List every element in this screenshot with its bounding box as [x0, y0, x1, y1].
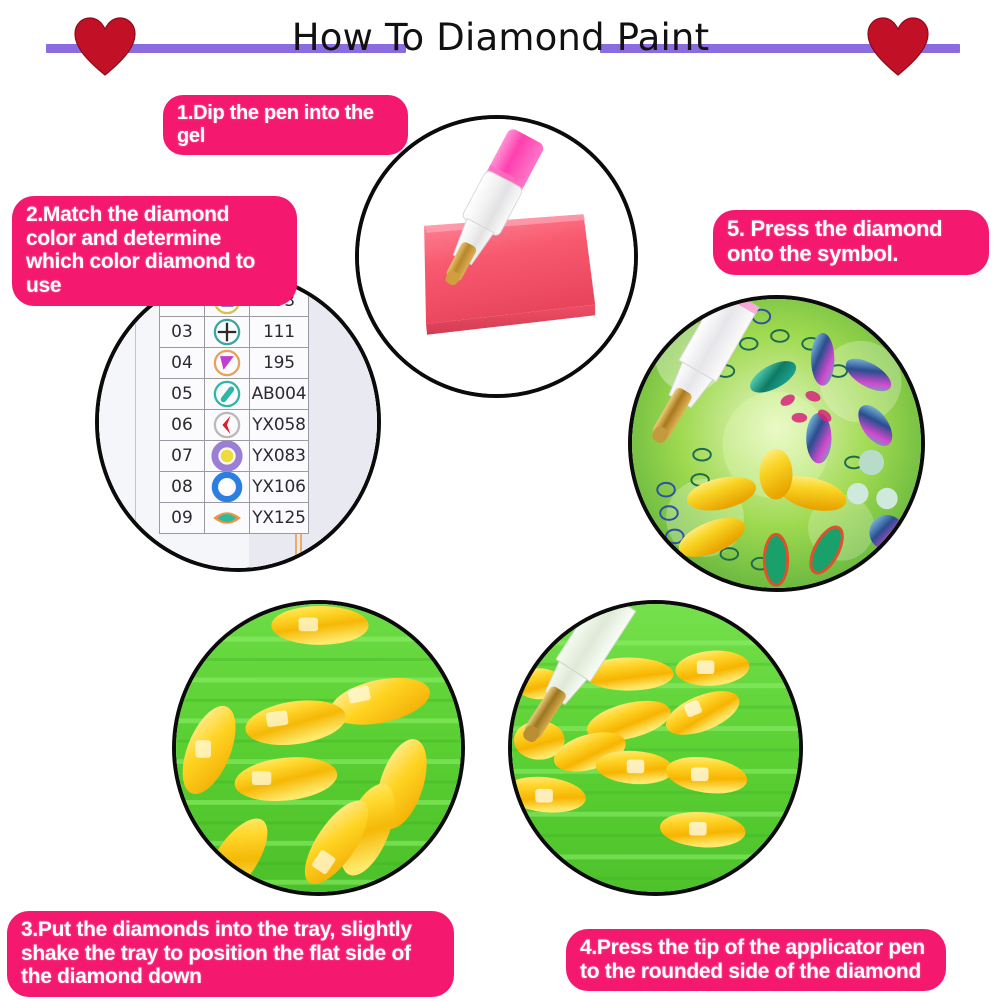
page-header: How To Diamond Paint: [0, 0, 1001, 80]
step-1-label: 1.Dip the pen into the gel: [163, 95, 408, 155]
step-5-label: 5. Press the diamond onto the symbol.: [713, 210, 989, 275]
photo-step-5: [628, 295, 925, 592]
color-code-table: 0102002093031110419505AB00406YX05807YX08…: [159, 272, 309, 534]
page-title: How To Diamond Paint: [0, 16, 1001, 60]
open-ring-symbol: [205, 472, 250, 503]
photo-step-2-color-chart: 0102002093031110419505AB00406YX05807YX08…: [95, 272, 381, 572]
color-row-number: 07: [160, 441, 205, 472]
diagonal-bar-circle-symbol: [205, 379, 250, 410]
plus-cross-symbol: [205, 317, 250, 348]
color-chart-photo: 0102002093031110419505AB00406YX05807YX08…: [99, 276, 377, 568]
color-row-number: 03: [160, 317, 205, 348]
table-row: 08YX106: [160, 472, 309, 503]
photo-step-3: [172, 600, 465, 896]
table-row: 06YX058: [160, 410, 309, 441]
color-row-code: 111: [250, 317, 309, 348]
color-row-code: YX083: [250, 441, 309, 472]
color-row-code: YX106: [250, 472, 309, 503]
table-row: 05AB004: [160, 379, 309, 410]
step-2-label: 2.Match the diamond color and determine …: [12, 196, 297, 306]
step-4-label: 4.Press the tip of the applicator pen to…: [566, 929, 946, 991]
dot-in-ring-symbol: [205, 441, 250, 472]
table-row: 04195: [160, 348, 309, 379]
table-row: 09YX125: [160, 503, 309, 534]
color-row-code: 195: [250, 348, 309, 379]
color-row-number: 05: [160, 379, 205, 410]
color-row-code: YX125: [250, 503, 309, 534]
table-row: 03111: [160, 317, 309, 348]
step-3-label: 3.Put the diamonds into the tray, slight…: [7, 911, 454, 997]
photo-step-4: [508, 600, 803, 896]
color-row-code: YX058: [250, 410, 309, 441]
color-row-number: 09: [160, 503, 205, 534]
color-row-code: AB004: [250, 379, 309, 410]
color-row-number: 06: [160, 410, 205, 441]
chart-guide-line-left: [135, 276, 136, 568]
left-arrow-symbol: [205, 410, 250, 441]
leaf-lens-symbol: [205, 503, 250, 534]
color-row-number: 08: [160, 472, 205, 503]
table-row: 07YX083: [160, 441, 309, 472]
photo-step-1: [355, 115, 638, 398]
filled-triangle-symbol: [205, 348, 250, 379]
color-row-number: 04: [160, 348, 205, 379]
